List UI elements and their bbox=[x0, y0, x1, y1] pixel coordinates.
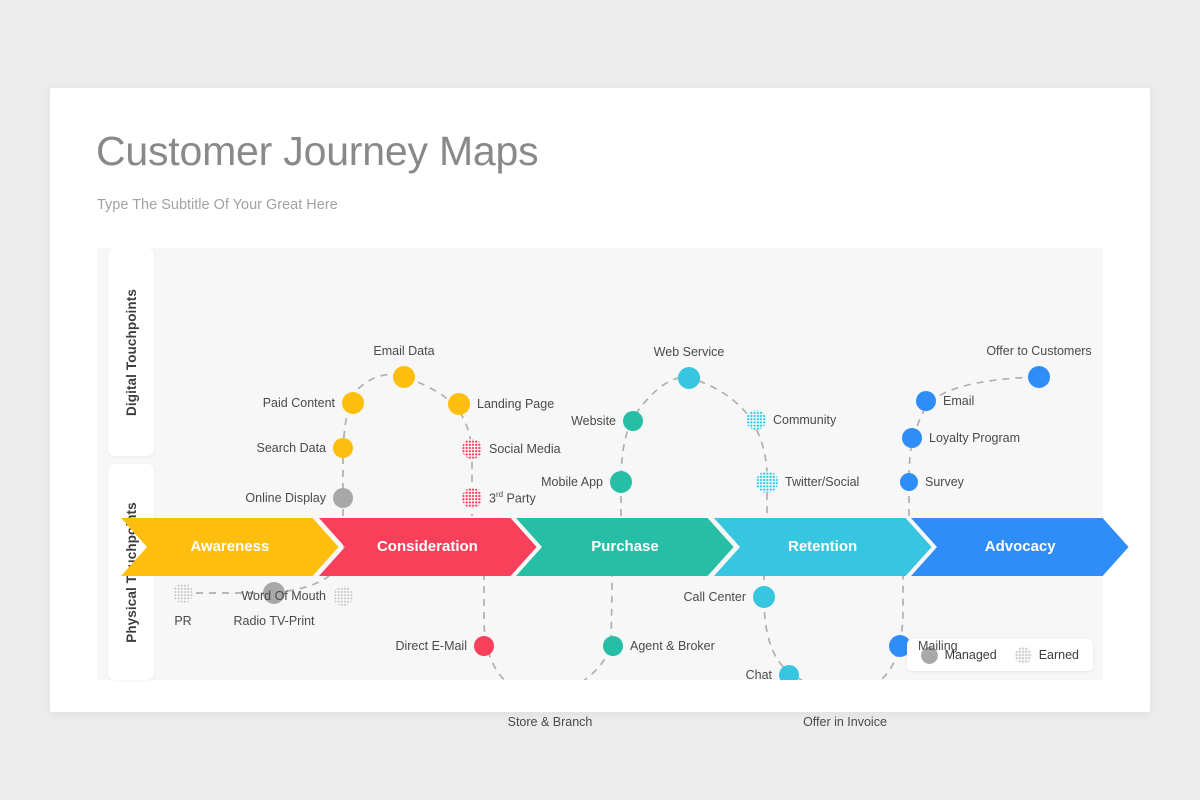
stage-chevron-advocacy[interactable] bbox=[911, 518, 1129, 576]
touchpoint-label: Online Display bbox=[245, 492, 326, 505]
earned-swatch-icon bbox=[1015, 647, 1032, 664]
touchpoint-label: Agent & Broker bbox=[630, 640, 715, 653]
touchpoint-label: Direct E-Mail bbox=[395, 640, 467, 653]
touchpoint-label: Offer to Customers bbox=[986, 345, 1091, 358]
touchpoint-label: Chat bbox=[746, 669, 772, 682]
touchpoint-label: Search Data bbox=[257, 442, 326, 455]
stage-chevron-shape bbox=[516, 518, 734, 576]
touchpoint-label: Store & Branch bbox=[508, 716, 593, 729]
stage-chevron-retention[interactable] bbox=[714, 518, 932, 576]
touchpoint-label: Word Of Mouth bbox=[241, 590, 326, 603]
touchpoint-label: Call Center bbox=[683, 591, 746, 604]
slide-canvas: Customer Journey Maps Type The Subtitle … bbox=[50, 88, 1150, 712]
touchpoint-label: Offer in Invoice bbox=[803, 716, 887, 729]
touchpoint-label: Survey bbox=[925, 476, 964, 489]
touchpoint-label: Paid Content bbox=[263, 397, 335, 410]
touchpoint-label: Social Media bbox=[489, 443, 561, 456]
legend-label: Earned bbox=[1039, 648, 1079, 662]
stage-chevron-consideration[interactable] bbox=[319, 518, 537, 576]
touchpoint-label: 3rd Party bbox=[489, 491, 536, 505]
stage-chevron-shape bbox=[121, 518, 339, 576]
stage-chevron-purchase[interactable] bbox=[516, 518, 734, 576]
touchpoint-label: PR bbox=[174, 615, 191, 628]
page-title: Customer Journey Maps bbox=[96, 128, 538, 175]
touchpoint-label: Mobile App bbox=[541, 476, 603, 489]
stage-chevron-shape bbox=[319, 518, 537, 576]
touchpoint-label: Radio TV-Print bbox=[233, 615, 314, 628]
stage-chevron-shape bbox=[714, 518, 932, 576]
legend-item-earned: Earned bbox=[1015, 647, 1079, 664]
touchpoint-label: Email bbox=[943, 395, 974, 408]
touchpoint-label: Landing Page bbox=[477, 398, 554, 411]
touchpoint-label: Mailing bbox=[918, 640, 958, 653]
touchpoint-label: Loyalty Program bbox=[929, 432, 1020, 445]
page-subtitle: Type The Subtitle Of Your Great Here bbox=[97, 197, 338, 213]
stage-chevron-shape bbox=[911, 518, 1129, 576]
touchpoint-label: Community bbox=[773, 414, 836, 427]
touchpoint-label: Twitter/Social bbox=[785, 476, 859, 489]
touchpoint-label: Email Data bbox=[373, 345, 434, 358]
touchpoint-label: Website bbox=[571, 415, 616, 428]
touchpoint-label: Web Service bbox=[654, 346, 725, 359]
stage-chevron-awareness[interactable] bbox=[121, 518, 339, 576]
journey-diagram-panel: Digital Touchpoints Physical Touchpoints… bbox=[97, 248, 1103, 680]
